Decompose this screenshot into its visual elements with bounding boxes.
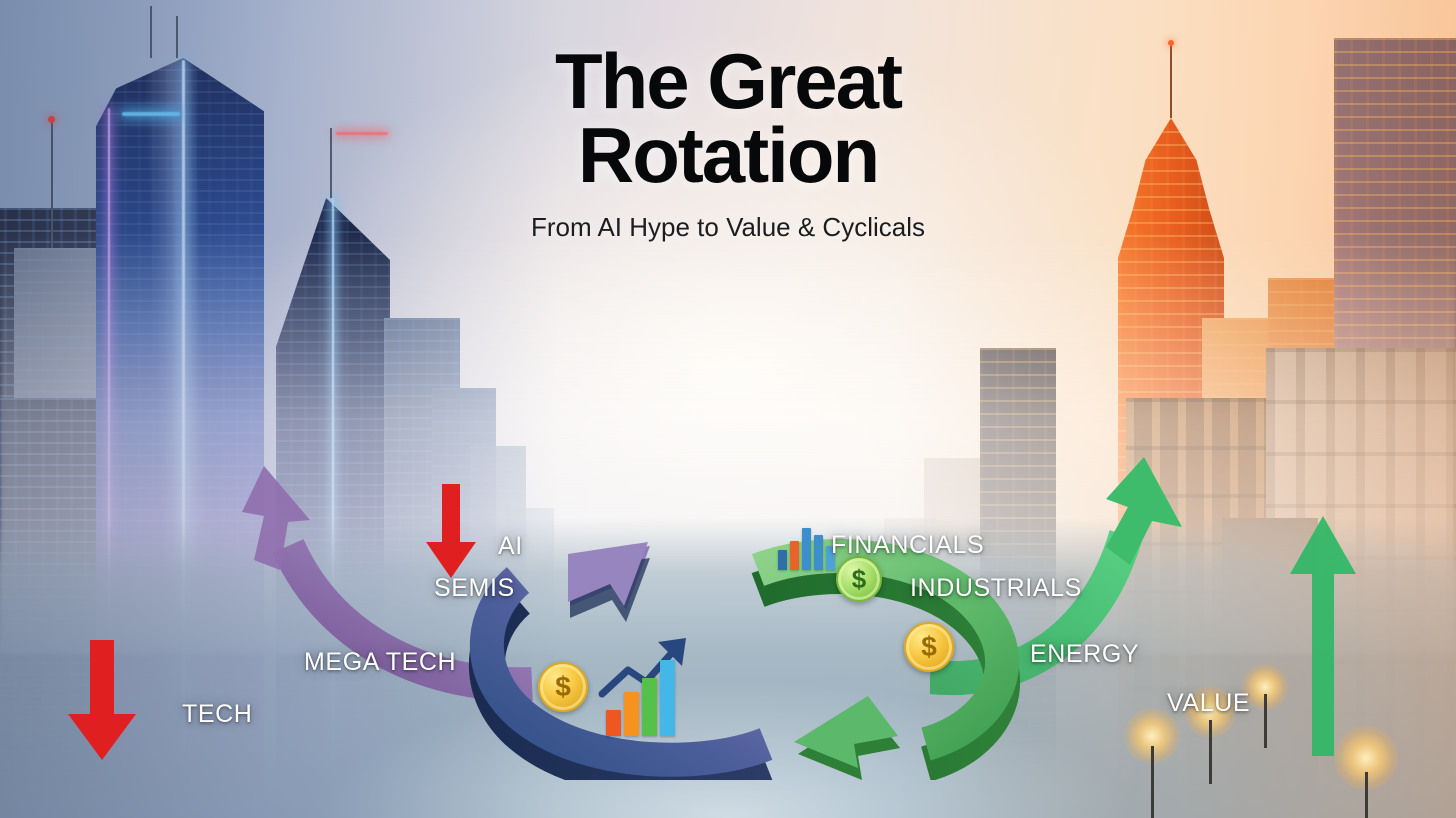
bar-2 bbox=[790, 541, 799, 570]
coin-gold-tech: $ bbox=[538, 662, 588, 712]
title-block: The Great Rotation From AI Hype to Value… bbox=[0, 44, 1456, 243]
title-line-2: Rotation bbox=[578, 111, 878, 199]
infographic-canvas: The Great Rotation From AI Hype to Value… bbox=[0, 0, 1456, 818]
label-industrials: INDUSTRIALS bbox=[910, 574, 1082, 603]
bar-4 bbox=[814, 535, 823, 570]
label-ai: AI bbox=[498, 532, 523, 561]
dollar-icon: $ bbox=[921, 631, 937, 663]
label-energy: ENERGY bbox=[1030, 640, 1139, 669]
financials-bars bbox=[778, 528, 835, 570]
coin-green-financials: $ bbox=[836, 556, 882, 602]
bar-1 bbox=[606, 710, 621, 736]
page-subtitle: From AI Hype to Value & Cyclicals bbox=[0, 212, 1456, 243]
bar-1 bbox=[778, 550, 787, 570]
label-value: VALUE bbox=[1167, 689, 1250, 718]
dollar-icon: $ bbox=[555, 671, 571, 703]
label-financials: FINANCIALS bbox=[831, 531, 984, 560]
label-mega-tech: MEGA TECH bbox=[304, 648, 456, 677]
street-sheen bbox=[260, 588, 1196, 818]
dollar-icon: $ bbox=[852, 564, 866, 595]
coin-gold-cycle: $ bbox=[904, 622, 954, 672]
bar-3 bbox=[802, 528, 811, 570]
growth-bars-center bbox=[606, 660, 675, 736]
label-tech: TECH bbox=[182, 700, 252, 729]
label-semis: SEMIS bbox=[434, 574, 515, 603]
bar-3 bbox=[642, 678, 657, 736]
page-title: The Great Rotation bbox=[0, 44, 1456, 192]
bar-4 bbox=[660, 660, 675, 736]
bar-2 bbox=[624, 692, 639, 736]
